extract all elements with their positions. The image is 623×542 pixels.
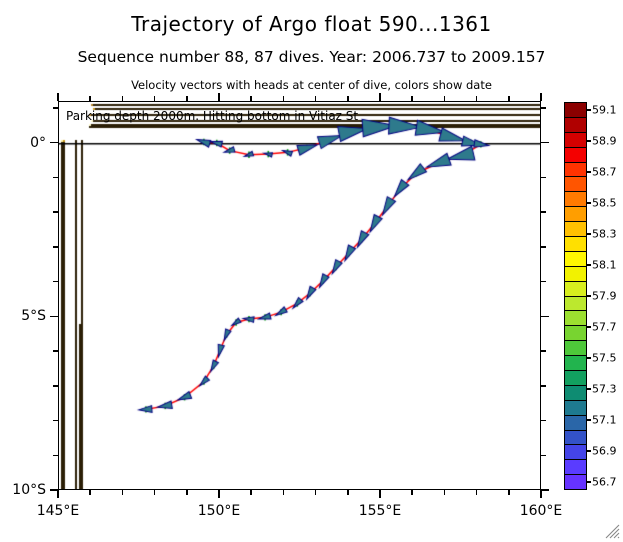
y-axis-tick xyxy=(53,350,58,352)
y-axis-tick-right xyxy=(541,350,546,352)
colorbar-cell xyxy=(565,341,586,356)
bathymetry-and-trajectory-canvas xyxy=(59,102,541,490)
colorbar-tick xyxy=(587,481,591,482)
colorbar-cell xyxy=(565,356,586,371)
x-axis-label: 155°E xyxy=(359,503,402,519)
y-axis-tick xyxy=(53,385,58,387)
colorbar-cell xyxy=(565,148,586,163)
colorbar-tick-label: 57.3 xyxy=(592,383,617,396)
x-axis-tick xyxy=(89,490,91,495)
colorbar-tick xyxy=(587,450,591,451)
x-axis-tick xyxy=(315,490,317,495)
colorbar-tick xyxy=(587,419,591,420)
y-axis-tick-right xyxy=(541,177,546,179)
caption: Velocity vectors with heads at center of… xyxy=(0,78,623,92)
colorbar-tick xyxy=(587,357,591,358)
colorbar-tick xyxy=(587,202,591,203)
colorbar-tick-label: 58.7 xyxy=(592,166,617,179)
y-axis-tick xyxy=(53,246,58,248)
colorbar-cell xyxy=(565,326,586,341)
x-axis-tick-top xyxy=(57,93,59,101)
page-title: Trajectory of Argo float 590...1361 xyxy=(0,12,623,36)
x-axis-label: 145°E xyxy=(37,503,80,519)
colorbar-tick xyxy=(587,326,591,327)
colorbar-cell xyxy=(565,237,586,252)
y-axis-tick xyxy=(53,420,58,422)
colorbar-tick xyxy=(587,264,591,265)
y-axis-tick-right xyxy=(541,316,549,318)
x-axis-tick xyxy=(411,490,413,495)
colorbar-cell xyxy=(565,192,586,207)
x-axis-tick xyxy=(540,490,542,498)
y-axis-tick-right xyxy=(541,142,549,144)
colorbar-tick xyxy=(587,109,591,110)
x-axis-tick-top xyxy=(508,96,510,101)
colorbar-tick xyxy=(587,140,591,141)
y-axis-tick-right xyxy=(541,281,546,283)
map-plot-area[interactable] xyxy=(58,101,541,490)
y-axis-label: 10°S xyxy=(0,482,46,498)
colorbar-tick-label: 58.1 xyxy=(592,259,617,272)
colorbar-cell xyxy=(565,133,586,148)
x-axis-tick xyxy=(122,490,124,495)
colorbar-tick-label: 56.9 xyxy=(592,445,617,458)
x-axis-tick-top xyxy=(186,96,188,101)
colorbar-cell xyxy=(565,371,586,386)
y-axis-label: 5°S xyxy=(0,308,46,324)
colorbar-cell xyxy=(565,252,586,267)
y-axis-tick-right xyxy=(541,211,546,213)
colorbar-cell xyxy=(565,297,586,312)
y-axis-tick-right xyxy=(541,107,546,109)
colorbar-cell xyxy=(565,207,586,222)
x-axis-tick xyxy=(476,490,478,495)
x-axis-tick-top xyxy=(411,96,413,101)
colorbar-cell xyxy=(565,267,586,282)
x-axis-tick xyxy=(250,490,252,495)
y-axis-tick xyxy=(50,489,58,491)
colorbar-cell xyxy=(565,431,586,446)
y-axis-tick-right xyxy=(541,455,546,457)
y-axis-tick-right xyxy=(541,420,546,422)
colorbar-cell xyxy=(565,401,586,416)
colorbar-tick xyxy=(587,295,591,296)
x-axis-tick-top xyxy=(315,96,317,101)
colorbar-cell xyxy=(565,416,586,431)
x-axis-tick xyxy=(154,490,156,495)
x-axis-tick xyxy=(186,490,188,495)
y-axis-tick xyxy=(50,142,58,144)
x-axis-tick-top xyxy=(122,96,124,101)
colorbar-cell xyxy=(565,282,586,297)
colorbar-cell xyxy=(565,163,586,178)
y-axis-tick-right xyxy=(541,246,546,248)
colorbar-tick-label: 57.1 xyxy=(592,414,617,427)
colorbar-tick-label: 57.5 xyxy=(592,352,617,365)
y-axis-tick xyxy=(53,455,58,457)
colorbar-cell xyxy=(565,475,586,489)
colorbar-cell xyxy=(565,222,586,237)
colorbar-tick-label: 57.9 xyxy=(592,290,617,303)
colorbar-tick-label: 57.7 xyxy=(592,321,617,334)
x-axis-tick xyxy=(379,490,381,498)
colorbar-tick-label: 58.9 xyxy=(592,135,617,148)
y-axis-tick-right xyxy=(541,489,549,491)
plot-annotation: Parking depth 2000m. Hitting bottom in V… xyxy=(66,109,358,123)
x-axis-label: 150°E xyxy=(198,503,241,519)
colorbar-cell xyxy=(565,103,586,118)
x-axis-label: 160°E xyxy=(520,503,563,519)
y-axis-tick xyxy=(53,177,58,179)
y-axis-tick xyxy=(53,281,58,283)
y-axis-tick-right xyxy=(541,385,546,387)
x-axis-tick-top xyxy=(283,96,285,101)
subtitle: Sequence number 88, 87 dives. Year: 2006… xyxy=(0,48,623,66)
x-axis-tick-top xyxy=(347,96,349,101)
colorbar-cell xyxy=(565,118,586,133)
y-axis-tick xyxy=(50,316,58,318)
x-axis-tick xyxy=(57,490,59,498)
y-axis-label: 0° xyxy=(0,135,46,151)
colorbar-tick-label: 59.1 xyxy=(592,104,617,117)
resize-grip-icon[interactable] xyxy=(605,524,620,539)
x-axis-tick-top xyxy=(154,96,156,101)
colorbar-cell xyxy=(565,445,586,460)
x-axis-tick xyxy=(444,490,446,495)
x-axis-tick-top xyxy=(89,96,91,101)
x-axis-tick-top xyxy=(476,96,478,101)
x-axis-tick xyxy=(347,490,349,495)
colorbar[interactable] xyxy=(564,102,587,490)
x-axis-tick xyxy=(508,490,510,495)
x-axis-tick-top xyxy=(379,93,381,101)
x-axis-tick-top xyxy=(218,93,220,101)
colorbar-tick-label: 58.5 xyxy=(592,197,617,210)
y-axis-tick xyxy=(53,211,58,213)
colorbar-tick xyxy=(587,233,591,234)
colorbar-tick xyxy=(587,171,591,172)
colorbar-cell xyxy=(565,386,586,401)
x-axis-tick-top xyxy=(250,96,252,101)
x-axis-tick xyxy=(218,490,220,498)
x-axis-tick-top xyxy=(444,96,446,101)
y-axis-tick xyxy=(53,107,58,109)
colorbar-cell xyxy=(565,311,586,326)
colorbar-tick-label: 56.7 xyxy=(592,476,617,489)
x-axis-tick xyxy=(283,490,285,495)
colorbar-tick xyxy=(587,388,591,389)
colorbar-tick-label: 58.3 xyxy=(592,228,617,241)
x-axis-tick-top xyxy=(540,93,542,101)
colorbar-cell xyxy=(565,177,586,192)
colorbar-cell xyxy=(565,460,586,475)
